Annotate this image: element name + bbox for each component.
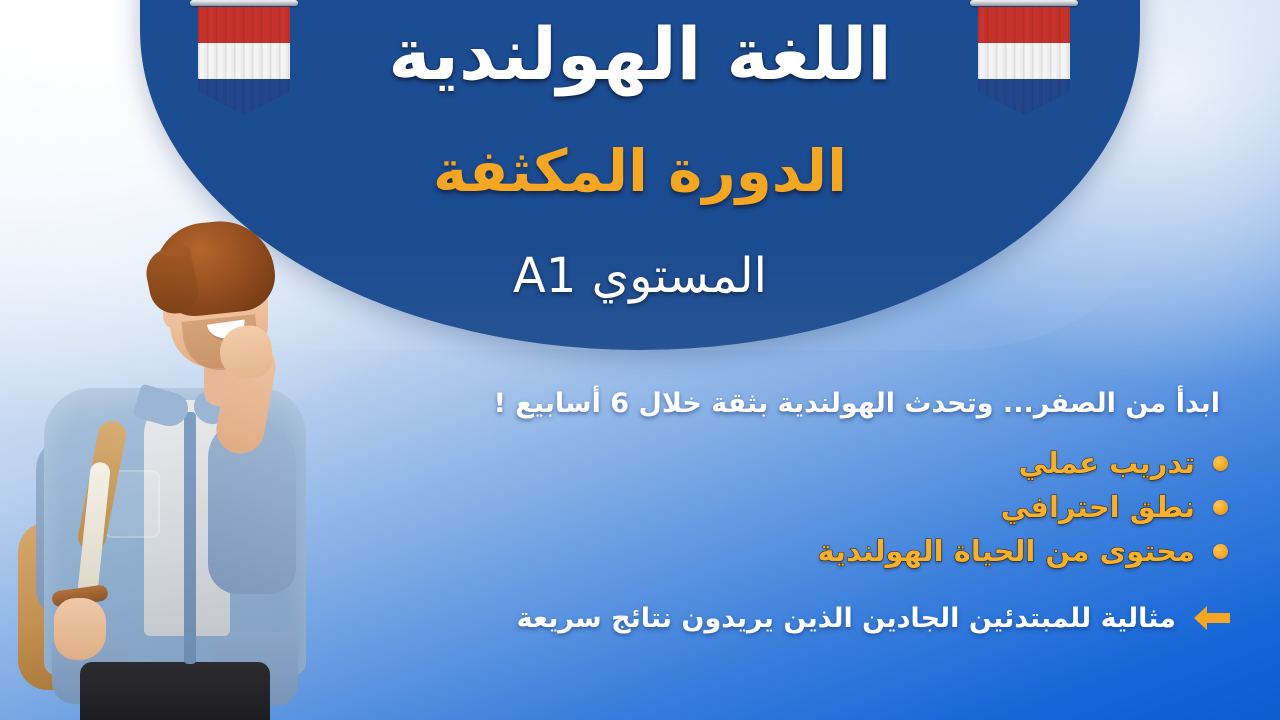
bullet-label: تدريب عملي [1019,446,1195,480]
shirt-placket [184,412,196,664]
list-item: تدريب عملي [818,446,1228,480]
list-item: محتوى من الحياة الهولندية [818,534,1228,568]
student-photo [8,222,338,720]
bullet-dot-icon [1213,456,1228,471]
footer-label: مثالية للمبتدئين الجادين الذين يريدون نت… [517,603,1176,634]
trousers [80,662,270,720]
bullet-label: نطق احترافي [1001,490,1195,524]
flag-rod-icon [970,0,1078,6]
left-hand [54,598,106,660]
poster-canvas: اللغة الهولندية الدورة المكثفة المستوي A… [0,0,1280,720]
bullet-dot-icon [1213,544,1228,559]
feature-bullet-list: تدريب عملي نطق احترافي محتوى من الحياة ا… [818,446,1228,568]
bullet-label: محتوى من الحياة الهولندية [818,534,1195,568]
poster-subtitle: الدورة المكثفة [0,137,1280,205]
flag-rod-icon [190,0,298,6]
poster-title: اللغة الهولندية [0,12,1280,96]
poster-tagline: ابدأ من الصفر... وتحدث الهولندية بثقة خل… [494,388,1220,419]
bullet-dot-icon [1213,500,1228,515]
list-item: نطق احترافي [818,490,1228,524]
arrow-left-icon [1192,602,1232,634]
footer-callout: مثالية للمبتدئين الجادين الذين يريدون نت… [517,602,1232,634]
